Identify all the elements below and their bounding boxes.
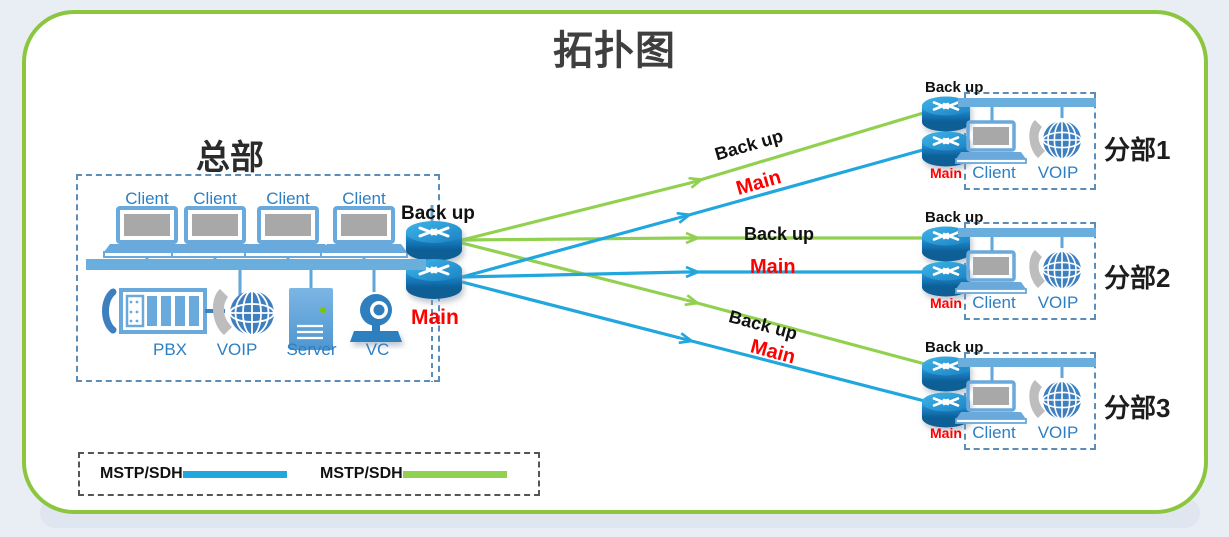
hq-bus-bar	[86, 259, 426, 270]
branch2-client-label: Client	[968, 293, 1020, 312]
branch3-name: 分部3	[1104, 388, 1170, 425]
hq-voip-label: VOIP	[212, 340, 262, 359]
branch2-voip-label: VOIP	[1036, 293, 1080, 312]
legend: MSTP/SDH MSTP/SDH	[78, 452, 540, 496]
hq-vc-label: VC	[355, 340, 400, 359]
branch1-voip-label: VOIP	[1036, 163, 1080, 182]
branch2-main-link-label: Main	[750, 256, 796, 279]
hq-pbx-label: PBX	[140, 340, 200, 359]
legend-item-main-swatch	[183, 471, 287, 478]
branch3-client-label: Client	[968, 423, 1020, 442]
hq-client-4-label: Client	[334, 189, 394, 208]
legend-item-backup-swatch	[403, 471, 507, 478]
legend-item-backup: MSTP/SDH	[320, 465, 507, 483]
branch1-bus-bar	[958, 98, 1096, 107]
branch3-router-main-label: Main	[930, 425, 962, 441]
branch1-client-label: Client	[968, 163, 1020, 182]
hq-client-2-label: Client	[185, 189, 245, 208]
branch2-router-backup-label: Back up	[925, 209, 983, 226]
hq-router-backup-label: Back up	[401, 203, 475, 225]
page-title: 拓扑图	[0, 18, 1229, 76]
hq-server-label: Server	[283, 340, 340, 359]
legend-item-main: MSTP/SDH	[100, 465, 287, 483]
branch3-bus-bar	[958, 358, 1096, 367]
branch1-name: 分部1	[1104, 130, 1170, 167]
branch2-name: 分部2	[1104, 258, 1170, 295]
branch2-backup-link-label: Back up	[744, 224, 814, 245]
branch1-router-main-label: Main	[930, 165, 962, 181]
hq-router-main-label: Main	[411, 306, 459, 330]
branch3-router-backup-label: Back up	[925, 339, 983, 356]
topology-diagram-canvas: 拓扑图	[0, 0, 1229, 537]
hq-client-1-label: Client	[117, 189, 177, 208]
hq-client-3-label: Client	[258, 189, 318, 208]
legend-item-backup-label: MSTP/SDH	[320, 465, 403, 483]
branch2-bus-bar	[958, 228, 1096, 237]
branch3-voip-label: VOIP	[1036, 423, 1080, 442]
branch1-router-backup-label: Back up	[925, 79, 983, 96]
hq-title: 总部	[196, 130, 264, 179]
legend-item-main-label: MSTP/SDH	[100, 465, 183, 483]
branch2-router-main-label: Main	[930, 295, 962, 311]
